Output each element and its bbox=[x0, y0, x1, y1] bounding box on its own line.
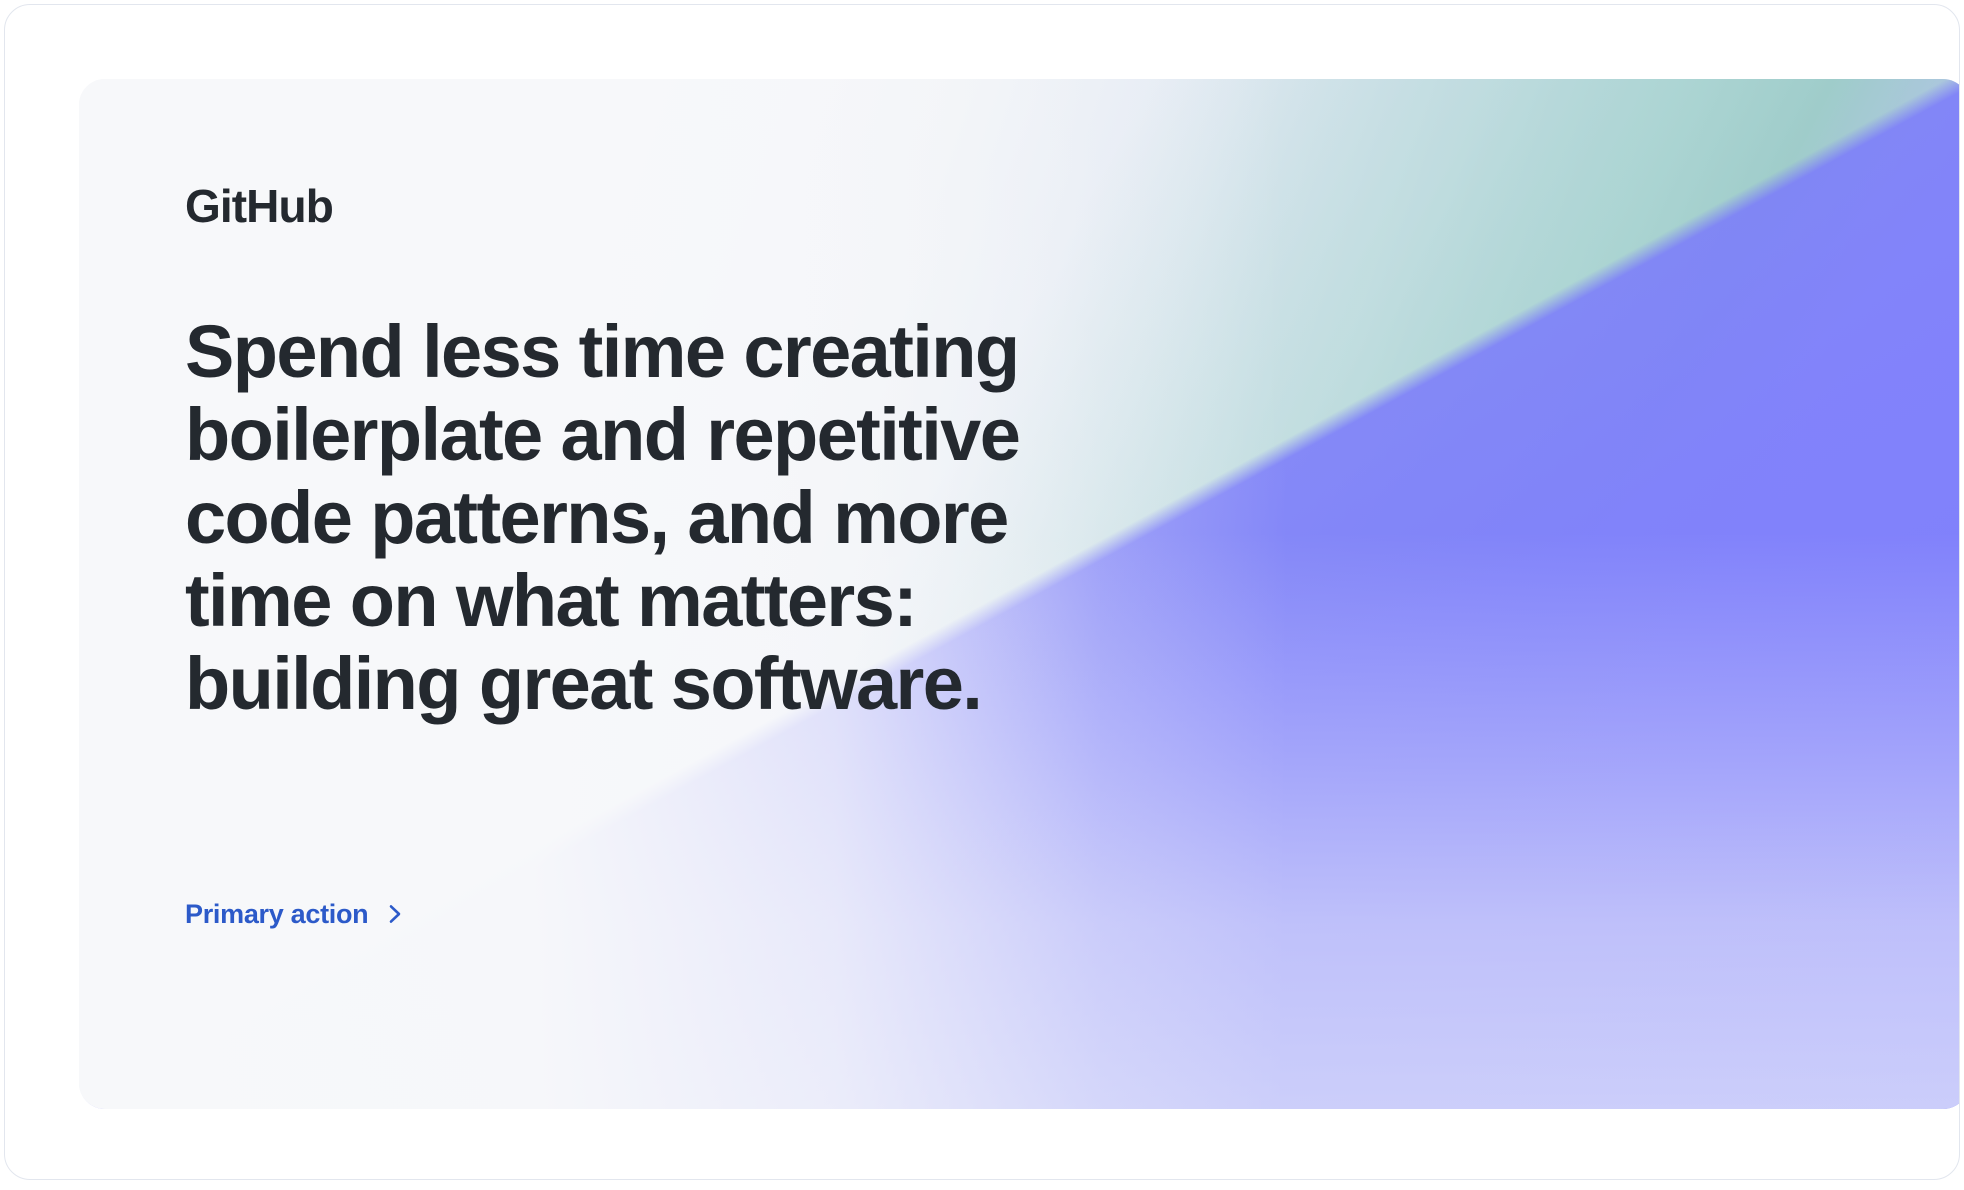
promo-card: GitHub Spend less time creating boilerpl… bbox=[79, 79, 1960, 1109]
headline-line-3: code patterns, and more bbox=[185, 477, 1205, 560]
github-wordmark: GitHub bbox=[185, 183, 1960, 229]
headline-line-5: building great software. bbox=[185, 643, 1205, 726]
headline-line-2: boilerplate and repetitive bbox=[185, 394, 1205, 477]
viewport-frame: GitHub Spend less time creating boilerpl… bbox=[4, 4, 1960, 1180]
chevron-right-icon bbox=[384, 903, 406, 925]
card-content: GitHub Spend less time creating boilerpl… bbox=[79, 79, 1960, 930]
headline: Spend less time creating boilerplate and… bbox=[185, 311, 1205, 725]
headline-line-4: time on what matters: bbox=[185, 560, 1205, 643]
primary-action-label: Primary action bbox=[185, 899, 368, 930]
primary-action-link[interactable]: Primary action bbox=[185, 899, 406, 930]
headline-line-1: Spend less time creating bbox=[185, 311, 1205, 394]
